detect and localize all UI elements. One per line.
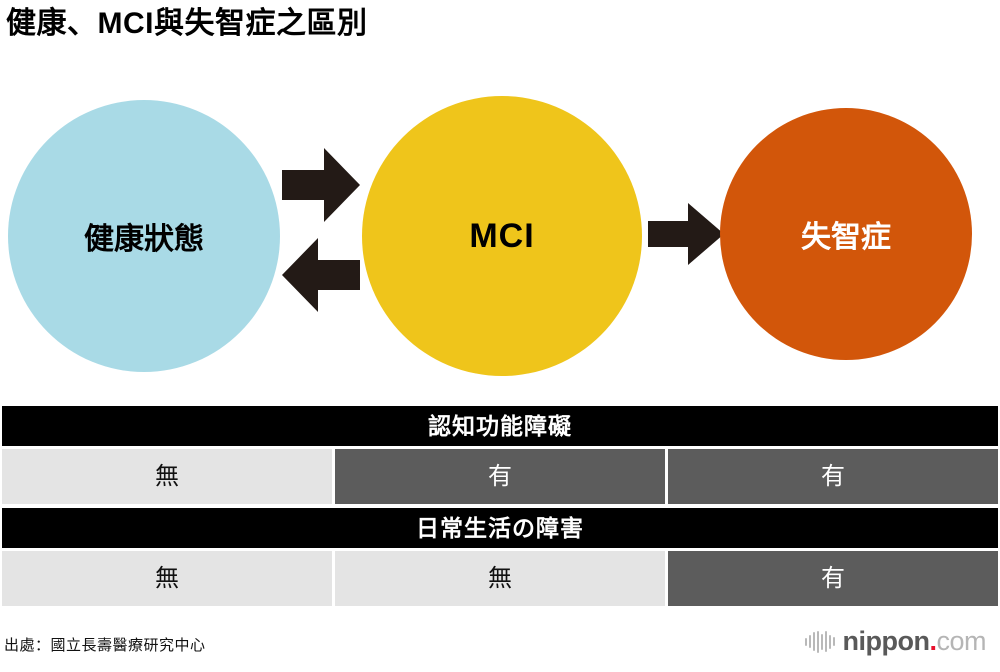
comparison-table: 認知功能障礙 無 有 有 日常生活の障害 無 無 有 <box>2 406 998 610</box>
table-cell-cognitive-dementia: 有 <box>668 449 998 504</box>
arrow-pair-healthy-mci <box>282 148 360 318</box>
arrow-left-icon <box>282 238 360 312</box>
nippon-com-logo: nippon.com <box>805 628 987 655</box>
table-cell-daily-dementia: 有 <box>668 551 998 606</box>
table-section-header-cognitive: 認知功能障礙 <box>2 406 998 446</box>
logo-tld: com <box>936 626 986 656</box>
stage-label-mci: MCI <box>469 217 534 256</box>
stage-diagram: 健康狀態 MCI 失智症 <box>0 88 1000 388</box>
stage-circle-dementia: 失智症 <box>720 108 972 360</box>
stage-circle-mci: MCI <box>362 96 642 376</box>
stage-circle-healthy: 健康狀態 <box>8 100 280 372</box>
arrow-right-icon <box>648 203 724 265</box>
page-title: 健康、MCI與失智症之區別 <box>6 6 368 42</box>
table-row: 無 有 有 <box>2 449 998 504</box>
arrow-mci-dementia <box>648 203 724 265</box>
sound-wave-icon <box>805 631 835 653</box>
table-cell-daily-mci: 無 <box>335 551 665 606</box>
arrow-right-icon <box>282 148 360 222</box>
table-cell-daily-healthy: 無 <box>2 551 332 606</box>
stage-label-dementia: 失智症 <box>801 212 891 256</box>
stage-label-healthy: 健康狀態 <box>84 214 204 258</box>
table-cell-cognitive-healthy: 無 <box>2 449 332 504</box>
table-cell-cognitive-mci: 有 <box>335 449 665 504</box>
logo-text: nippon.com <box>843 628 987 655</box>
source-note: 出處：國立長壽醫療研究中心 <box>4 634 206 655</box>
table-row: 無 無 有 <box>2 551 998 606</box>
logo-name: nippon <box>843 626 930 656</box>
table-section-header-daily-life: 日常生活の障害 <box>2 508 998 548</box>
